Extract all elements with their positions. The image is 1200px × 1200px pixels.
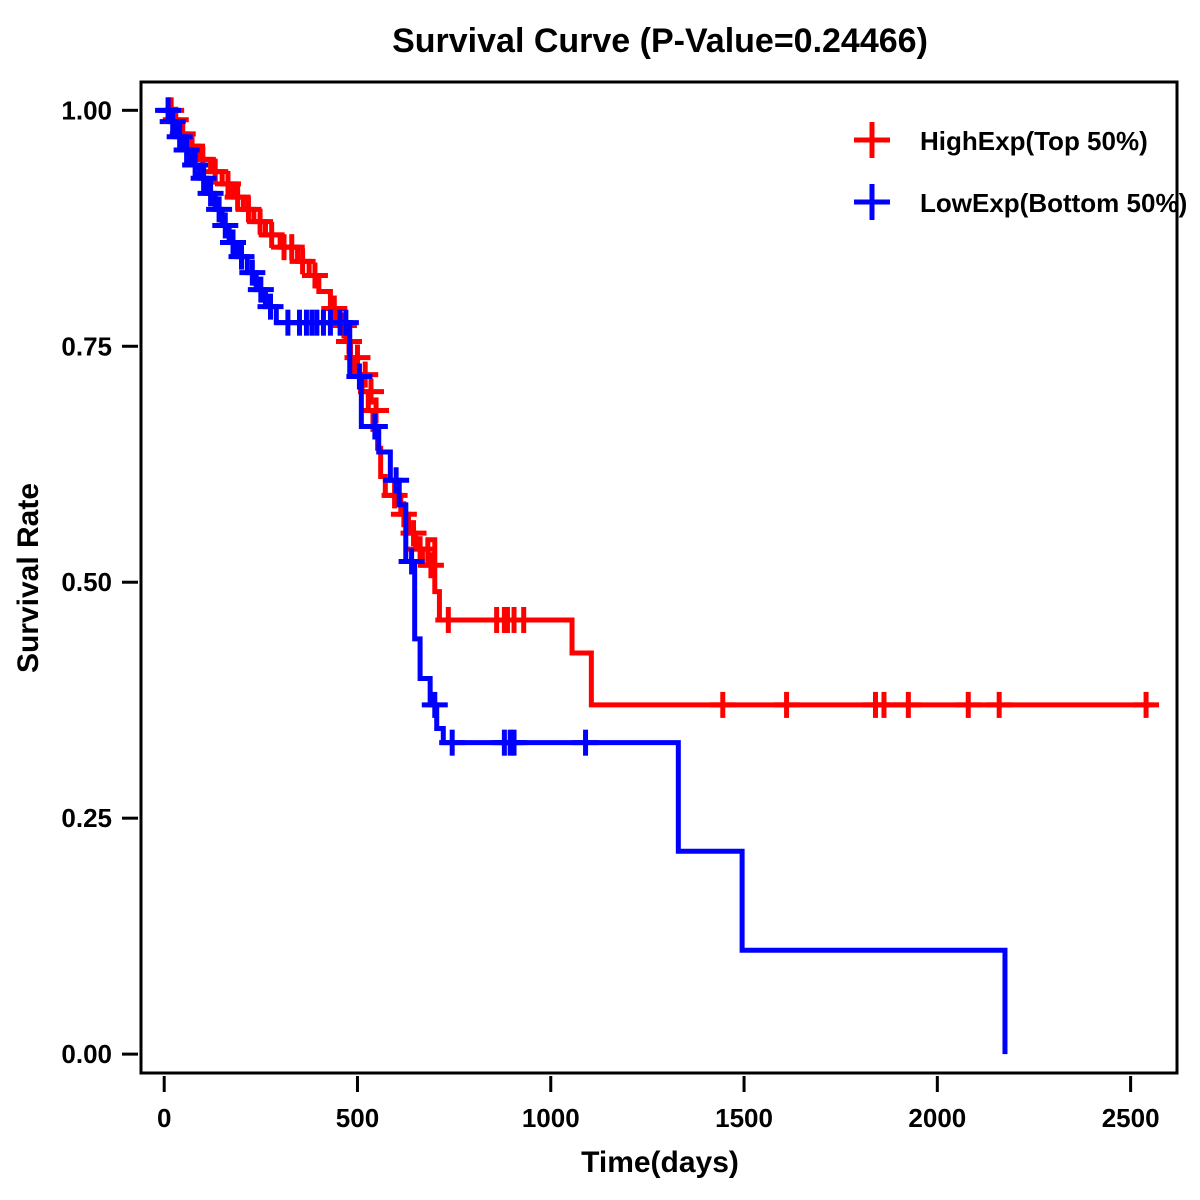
y-tick-label: 1.00 bbox=[61, 95, 112, 125]
plot-panel-border bbox=[141, 82, 1177, 1073]
x-tick-label: 500 bbox=[336, 1103, 379, 1133]
x-axis-title: Time(days) bbox=[581, 1146, 739, 1179]
legend-label: LowExp(Bottom 50%) bbox=[920, 188, 1187, 218]
legend-label: HighExp(Top 50%) bbox=[920, 126, 1148, 156]
x-tick-label: 1500 bbox=[715, 1103, 773, 1133]
survival-curve-figure: Survival Curve (P-Value=0.24466) 0500100… bbox=[0, 0, 1200, 1200]
y-tick-label: 0.75 bbox=[61, 331, 112, 361]
chart-legend: HighExp(Top 50%)LowExp(Bottom 50%) bbox=[854, 122, 1187, 220]
chart-title: Survival Curve (P-Value=0.24466) bbox=[392, 22, 928, 60]
y-tick-label: 0.25 bbox=[61, 803, 112, 833]
y-tick-label: 0.50 bbox=[61, 567, 112, 597]
x-tick-label: 2000 bbox=[908, 1103, 966, 1133]
x-tick-label: 1000 bbox=[522, 1103, 580, 1133]
x-tick-label: 0 bbox=[157, 1103, 171, 1133]
legend-key-low-exp bbox=[854, 184, 890, 220]
chart-canvas: Survival Curve (P-Value=0.24466) 0500100… bbox=[0, 0, 1200, 1200]
legend-key-high-exp bbox=[854, 122, 890, 158]
y-tick-label: 0.00 bbox=[61, 1039, 112, 1069]
axes-group: 050010001500200025000.000.250.500.751.00 bbox=[61, 95, 1159, 1133]
x-tick-label: 2500 bbox=[1102, 1103, 1160, 1133]
y-axis-title: Survival Rate bbox=[12, 483, 45, 673]
series-group bbox=[155, 97, 1159, 1054]
